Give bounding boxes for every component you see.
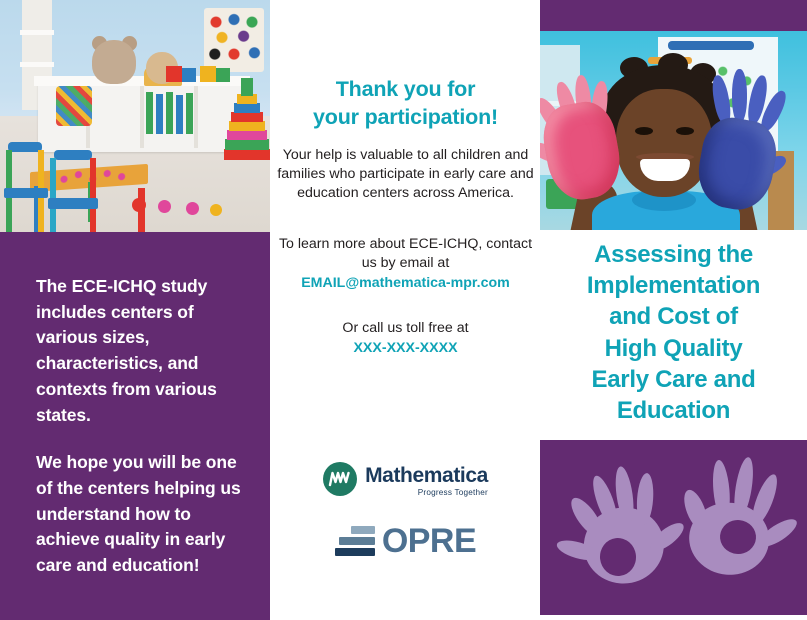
phone-block: Or call us toll free at XXX-XXX-XXXX: [277, 319, 534, 358]
thank-you-heading-line-1: Thank you for: [283, 76, 528, 104]
toy-block: [182, 68, 196, 82]
right-title-panel: Assessing the Implementation and Cost of…: [540, 230, 807, 440]
stacking-ring-tower: [224, 78, 270, 164]
thank-you-body-text: Your help is valuable to all children an…: [277, 146, 534, 203]
opre-bar-middle: [339, 537, 375, 545]
opre-bar-top: [351, 526, 375, 534]
left-panel-text-block: The ECE-ICHQ study includes centers of v…: [36, 274, 256, 579]
thank-you-heading-line-2: your participation!: [283, 104, 528, 132]
brochure-title-line-5: Early Care and: [550, 364, 797, 395]
toy-bowling-pins: [146, 92, 198, 134]
opre-wordmark: OPRE: [382, 524, 476, 558]
polka-dot-pillow: [204, 8, 264, 72]
opre-logo: OPRE: [271, 524, 540, 558]
right-child-photo: [540, 31, 807, 230]
handprints-icon: [540, 440, 807, 615]
mathematica-wordmark: Mathematica Progress Together: [365, 465, 488, 497]
mathematica-mark-icon: [323, 462, 357, 501]
mathematica-name: Mathematica: [365, 465, 488, 486]
right-top-purple-band: [540, 0, 807, 31]
handprint-panel: [540, 440, 807, 615]
toy-ball: [186, 202, 199, 215]
phone-intro-text: Or call us toll free at: [342, 320, 468, 336]
play-chair-back: [8, 142, 42, 152]
brochure-title-line-1: Assessing the: [550, 239, 797, 270]
child-eye-right: [676, 127, 694, 135]
play-chair-seat: [48, 198, 98, 209]
toy-ball: [132, 198, 146, 212]
opre-bars-icon: [335, 526, 375, 556]
brochure-title-line-4: High Quality: [550, 333, 797, 364]
play-chair-seat: [4, 188, 48, 198]
contact-email-link[interactable]: EMAIL@mathematica-mpr.com: [277, 274, 534, 293]
teddy-bear-large: [92, 40, 136, 84]
contact-intro-text: To learn more about ECE-ICHQ, contact us…: [279, 236, 532, 271]
playroom-ladder-rung: [20, 62, 54, 67]
brochure-title-line-3: and Cost of: [550, 301, 797, 332]
colorful-blanket: [56, 86, 92, 126]
toy-ball: [210, 204, 222, 216]
play-chair-leg: [90, 158, 96, 232]
child-eye-left: [635, 127, 653, 135]
center-panel: Thank you for your participation! Your h…: [271, 0, 540, 620]
brochure-title-line-6: Education: [550, 395, 797, 426]
brochure-title-line-2: Implementation: [550, 270, 797, 301]
opre-bar-bottom: [335, 548, 375, 556]
painted-finger-blue: [732, 69, 747, 123]
left-purple-panel: The ECE-ICHQ study includes centers of v…: [0, 232, 270, 620]
playroom-ladder-rung: [20, 30, 54, 35]
playroom-shelf-divider: [140, 86, 144, 148]
left-playroom-photo: [0, 0, 270, 232]
paint-stroke: [668, 41, 754, 50]
left-paragraph-invitation: We hope you will be one of the centers h…: [36, 450, 256, 579]
toy-block: [200, 66, 216, 82]
mathematica-logo: Mathematica Progress Together: [271, 462, 540, 501]
brochure-title: Assessing the Implementation and Cost of…: [550, 239, 797, 426]
toy-ball: [158, 200, 171, 213]
left-paragraph-study-centers: The ECE-ICHQ study includes centers of v…: [36, 274, 256, 428]
contact-block: To learn more about ECE-ICHQ, contact us…: [277, 235, 534, 293]
phone-number-link[interactable]: XXX-XXX-XXXX: [277, 339, 534, 358]
toy-block: [166, 66, 182, 82]
thank-you-heading: Thank you for your participation!: [283, 76, 528, 131]
mathematica-tagline: Progress Together: [418, 489, 488, 497]
play-chair-back: [54, 150, 92, 160]
play-chair-leg: [50, 158, 56, 232]
